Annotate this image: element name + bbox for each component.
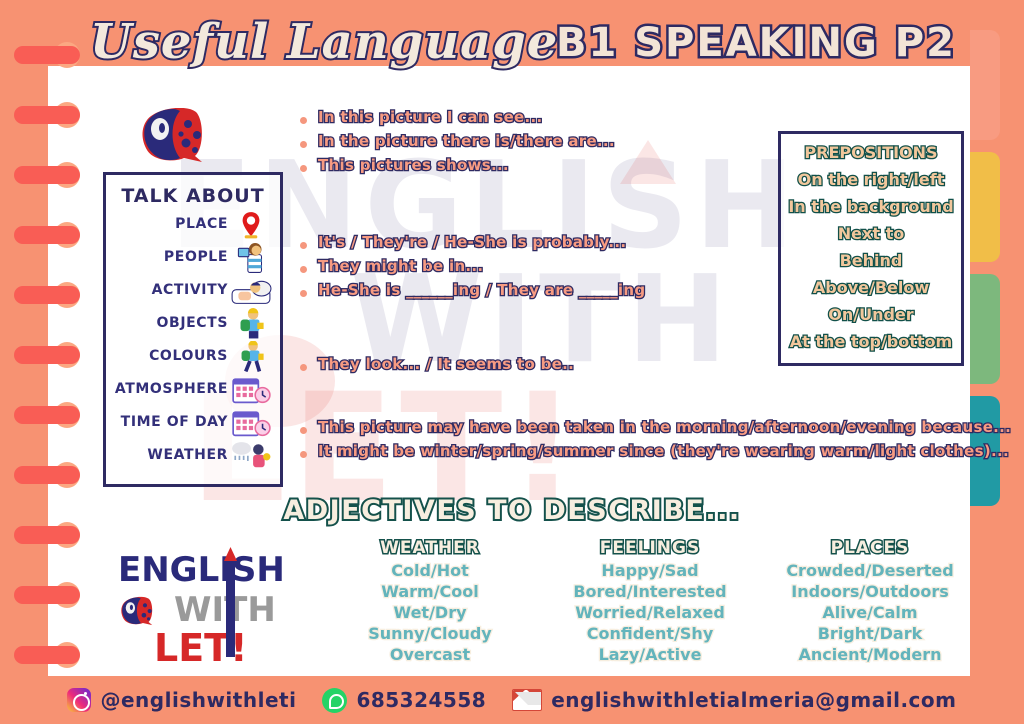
preposition-item: Above/Below [781, 274, 961, 301]
bullet-dot-icon [300, 165, 307, 172]
bullet-dot-icon [300, 451, 307, 458]
adjective-item: Alive/Calm [770, 602, 970, 623]
preposition-item: On the right/left [781, 166, 961, 193]
talk-about-box: TALK ABOUT PLACEPEOPLEACTIVITYOBJECTSCOL… [103, 172, 283, 487]
whatsapp-number: 685324558 [356, 688, 486, 712]
spiral-ring [14, 166, 80, 184]
adjectives-column-heading: FEELINGS [550, 538, 750, 558]
bullet-item: It might be winter/spring/summer since (… [300, 442, 1011, 460]
bullet-item: It's / They're / He-She is probably... [300, 233, 645, 251]
talk-about-item-label: WEATHER [147, 447, 228, 463]
talk-about-item-place: PLACE [106, 207, 280, 240]
adjective-item: Worried/Relaxed [550, 602, 750, 623]
instagram-icon [67, 688, 91, 712]
adjective-item: Lazy/Active [550, 644, 750, 665]
adjectives-column-feelings: FEELINGSHappy/SadBored/InterestedWorried… [550, 538, 750, 665]
bullet-text: This picture may have been taken in the … [318, 418, 1011, 436]
preposition-item: On/Under [781, 301, 961, 328]
adjectives-column-weather: WEATHERCold/HotWarm/CoolWet/DrySunny/Clo… [330, 538, 530, 665]
poster-canvas: ENGLISH WITH LET! Useful Language B1 SPE… [0, 0, 1024, 724]
bullet-text: In the picture there is/there are... [318, 132, 615, 150]
backpack-person-icon [230, 308, 272, 338]
talk-about-item-people: PEOPLE [106, 240, 280, 273]
talk-about-item-objects: OBJECTS [106, 306, 280, 339]
adjective-item: Overcast [330, 644, 530, 665]
bullet-item: They might be in... [300, 257, 645, 275]
talk-about-item-activity: ACTIVITY [106, 273, 280, 306]
prepositions-list: On the right/leftIn the backgroundNext t… [781, 166, 961, 355]
fish-speech-bubble-icon [140, 108, 206, 169]
talk-about-list: PLACEPEOPLEACTIVITYOBJECTSCOLOURSATMOSPH… [106, 207, 280, 471]
bullet-text: This pictures shows... [318, 156, 509, 174]
bullet-text: They might be in... [318, 257, 483, 275]
footer-email[interactable]: englishwithletialmeria@gmail.com [512, 688, 956, 712]
adjective-item: Confident/Shy [550, 623, 750, 644]
location-pin-icon [230, 209, 272, 239]
adjective-item: Bored/Interested [550, 581, 750, 602]
email-address: englishwithletialmeria@gmail.com [551, 688, 956, 712]
adjectives-column-heading: PLACES [770, 538, 970, 558]
footer-whatsapp[interactable]: 685324558 [322, 688, 486, 713]
talk-about-item-atmosphere: ATMOSPHERE [106, 372, 280, 405]
spiral-ring [14, 646, 80, 664]
bullet-dot-icon [300, 427, 307, 434]
spiral-ring [14, 106, 80, 124]
spiral-ring [14, 466, 80, 484]
talk-about-item-label: ATMOSPHERE [115, 381, 228, 397]
bullet-text: It's / They're / He-She is probably... [318, 233, 626, 251]
bullet-text: In this picture I can see... [318, 108, 543, 126]
bullet-item: This pictures shows... [300, 156, 615, 174]
adjectives-title: ADJECTIVES TO DESCRIBE... [0, 495, 1024, 526]
adjective-item: Crowded/Deserted [770, 560, 970, 581]
svg-text:ENGLISH: ENGLISH [118, 550, 285, 590]
calendar-clock-icon [230, 374, 272, 404]
page-title-right: B1 SPEAKING P2 [556, 20, 956, 66]
spiral-ring [14, 526, 80, 544]
instagram-handle: @englishwithleti [100, 688, 296, 712]
prepositions-heading: PREPOSITIONS [781, 139, 961, 166]
spiral-ring [14, 286, 80, 304]
footer-contacts: @englishwithleti 685324558 englishwithle… [0, 676, 1024, 724]
bullet-item: In this picture I can see... [300, 108, 615, 126]
bullet-dot-icon [300, 242, 307, 249]
bullet-item: This picture may have been taken in the … [300, 418, 1011, 436]
prepositions-box: PREPOSITIONS On the right/leftIn the bac… [778, 131, 964, 366]
talk-about-item-label: OBJECTS [157, 315, 228, 331]
adjective-item: Indoors/Outdoors [770, 581, 970, 602]
adjective-item: Wet/Dry [330, 602, 530, 623]
talk-about-item-colours: COLOURS [106, 339, 280, 372]
bullet-item: In the picture there is/there are... [300, 132, 615, 150]
walking-person-icon [230, 341, 272, 371]
person-drinking-icon [230, 242, 272, 272]
bullet-text: It might be winter/spring/summer since (… [318, 442, 1009, 460]
bullet-dot-icon [300, 364, 307, 371]
adjective-item: Bright/Dark [770, 623, 970, 644]
adjectives-column-heading: WEATHER [330, 538, 530, 558]
adjective-item: Happy/Sad [550, 560, 750, 581]
talk-about-item-weather: WEATHER [106, 438, 280, 471]
svg-text:WITH: WITH [174, 590, 276, 630]
brand-logo: ENGLISH WITH LET! [118, 545, 293, 665]
bullet-dot-icon [300, 290, 307, 297]
bullet-dot-icon [300, 266, 307, 273]
adjectives-columns: WEATHERCold/HotWarm/CoolWet/DrySunny/Clo… [330, 538, 970, 665]
adjective-item: Ancient/Modern [770, 644, 970, 665]
bullet-dot-icon [300, 117, 307, 124]
talk-about-item-label: TIME OF DAY [121, 414, 228, 430]
whatsapp-icon [322, 688, 347, 713]
bullet-text: They look... / It seems to be.. [318, 355, 574, 373]
bullet-item: He-She is ______ing / They are _____ing [300, 281, 645, 299]
preposition-item: At the top/bottom [781, 328, 961, 355]
bullet-item: They look... / It seems to be.. [300, 355, 574, 373]
bullet-group-3: They look... / It seems to be.. [300, 355, 574, 379]
talk-about-item-time-of-day: TIME OF DAY [106, 405, 280, 438]
preposition-item: In the background [781, 193, 961, 220]
talk-about-item-label: PEOPLE [164, 249, 228, 265]
preposition-item: Next to [781, 220, 961, 247]
adjectives-column-places: PLACESCrowded/DesertedIndoors/OutdoorsAl… [770, 538, 970, 665]
adjective-item: Cold/Hot [330, 560, 530, 581]
bullet-dot-icon [300, 141, 307, 148]
talk-about-item-label: ACTIVITY [152, 282, 228, 298]
spiral-ring [14, 406, 80, 424]
rain-cloud-icon [230, 440, 272, 470]
preposition-item: Behind [781, 247, 961, 274]
spiral-ring [14, 586, 80, 604]
page-title-left: Useful Language [90, 14, 558, 70]
talk-about-item-label: COLOURS [149, 348, 228, 364]
talk-about-item-label: PLACE [175, 216, 228, 232]
footer-instagram[interactable]: @englishwithleti [67, 688, 296, 712]
spiral-ring [14, 46, 80, 64]
adjective-item: Warm/Cool [330, 581, 530, 602]
person-sleeping-icon [230, 275, 272, 305]
bullet-group-2: It's / They're / He-She is probably...Th… [300, 233, 645, 305]
spiral-ring [14, 346, 80, 364]
calendar-clock-icon [230, 407, 272, 437]
bullet-text: He-She is ______ing / They are _____ing [318, 281, 645, 299]
adjective-item: Sunny/Cloudy [330, 623, 530, 644]
bullet-group-4: This picture may have been taken in the … [300, 418, 1011, 466]
talk-about-heading: TALK ABOUT [106, 185, 280, 207]
bullet-group-1: In this picture I can see...In the pictu… [300, 108, 615, 180]
spiral-ring [14, 226, 80, 244]
gmail-icon [512, 689, 542, 711]
